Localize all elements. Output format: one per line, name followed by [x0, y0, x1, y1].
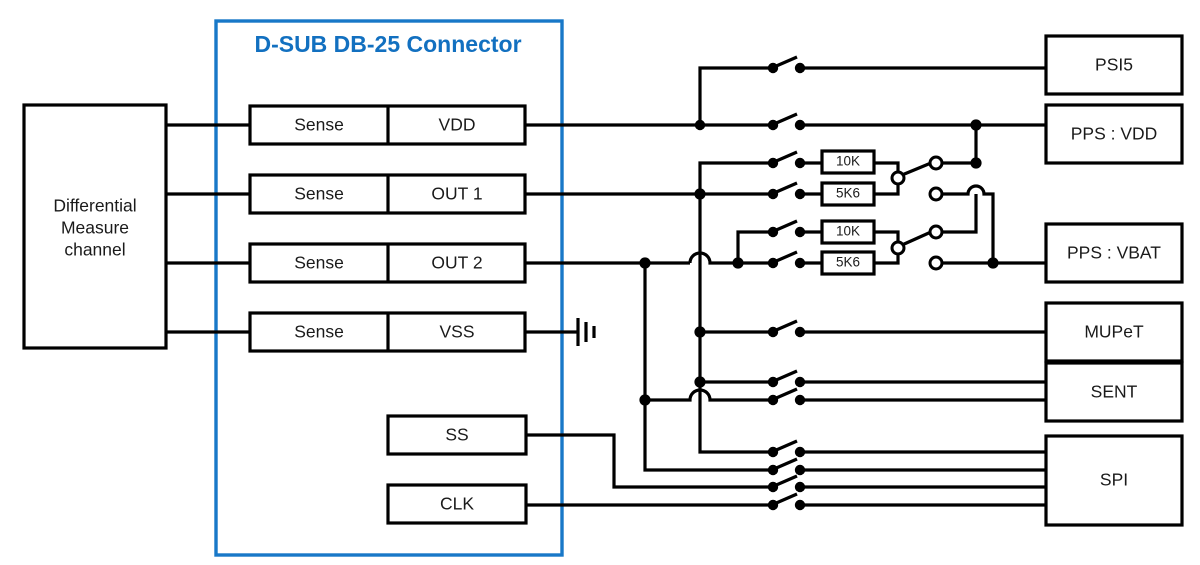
pin-signal-label-out2: OUT 2: [431, 253, 482, 273]
target-label-spi: SPI: [1100, 470, 1128, 490]
wire-spi2-from-bus645: [645, 410, 770, 470]
pin-signal-label-ss: SS: [445, 425, 468, 445]
switch-spi-4-clk[interactable]: [768, 494, 805, 510]
target-label-mupet: MUPeT: [1084, 322, 1144, 342]
wire-spi1-from-bus700: [700, 400, 770, 452]
circuit-diagram-canvas: D-SUB DB-25 Connector Differential Measu…: [0, 0, 1200, 565]
out1-bus-up: [700, 163, 770, 194]
pin-sense-label-out1: Sense: [294, 184, 344, 204]
vdd-branch-to-psi5: [700, 68, 770, 125]
target-label-pps-vdd: PPS : VDD: [1071, 124, 1158, 144]
pin-sense-label-vdd: Sense: [294, 115, 344, 135]
dsub-connector-boundary: [216, 21, 562, 555]
wire-rotary-out2-a-up-to-vddrail: [942, 194, 976, 232]
rotary-out1-pole-b[interactable]: [930, 188, 942, 200]
switch-out2-5k6[interactable]: [768, 252, 805, 268]
ground-icon: [578, 318, 594, 346]
switch-pps-vdd[interactable]: [768, 114, 805, 130]
out2-hop-over-bus: [690, 253, 738, 263]
pin-sense-label-out2: Sense: [294, 253, 344, 273]
junction-rotary-out1-vddrail: [970, 157, 981, 168]
wire-sent2-hop: [645, 390, 770, 400]
switch-out1-5k6[interactable]: [768, 183, 805, 199]
resistor-label-out1-10k: 10K: [836, 154, 860, 169]
switch-out2-10k[interactable]: [768, 221, 805, 237]
diff-measure-line2: Measure: [61, 218, 129, 238]
junction-vdd-psi5: [695, 120, 705, 130]
switch-spi-1[interactable]: [768, 441, 805, 457]
rotary-out1-pole-a[interactable]: [930, 157, 942, 169]
pin-signal-label-clk: CLK: [440, 494, 474, 514]
switch-mupet[interactable]: [768, 321, 805, 337]
target-label-sent: SENT: [1091, 382, 1138, 402]
diff-measure-line3: channel: [64, 240, 125, 260]
switch-sent-1[interactable]: [768, 371, 805, 387]
pin-signal-label-out1: OUT 1: [431, 184, 482, 204]
target-label-pps-vbat: PPS : VBAT: [1067, 243, 1161, 263]
rotary-out2-lever: [902, 232, 931, 245]
switch-sent-2[interactable]: [768, 389, 805, 405]
switch-psi5[interactable]: [768, 57, 805, 73]
resistor-label-out2-5k6: 5K6: [836, 255, 860, 270]
dsub-connector-title: D-SUB DB-25 Connector: [254, 31, 521, 57]
switch-out1-10k[interactable]: [768, 152, 805, 168]
rotary-out2-pole-a[interactable]: [930, 226, 942, 238]
diff-measure-line1: Differential: [53, 196, 136, 216]
target-label-psi5: PSI5: [1095, 55, 1133, 75]
rotary-out2-pole-b[interactable]: [930, 257, 942, 269]
pin-signal-label-vss: VSS: [439, 322, 474, 342]
resistor-label-out2-10k: 10K: [836, 224, 860, 239]
wire-rotary-out1-b-to-vbatrail: [942, 186, 993, 263]
pin-sense-label-vss: Sense: [294, 322, 344, 342]
switch-spi-2[interactable]: [768, 459, 805, 475]
rotary-out1-lever: [902, 163, 931, 175]
resistor-label-out1-5k6: 5K6: [836, 186, 860, 201]
switch-spi-3-ss[interactable]: [768, 476, 805, 492]
pin-signal-label-vdd: VDD: [439, 115, 476, 135]
out2-bus-up: [738, 232, 770, 263]
